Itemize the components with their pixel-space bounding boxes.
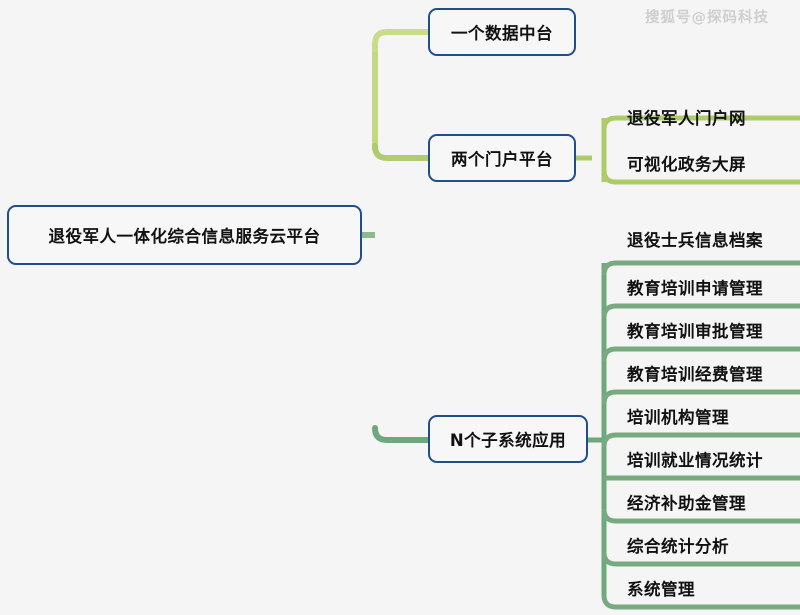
- leaf-node[interactable]: 综合统计分析: [614, 528, 729, 562]
- root-node[interactable]: 退役军人一体化综合信息服务云平台: [7, 205, 362, 265]
- leaf-node-label: 退役军人门户网: [627, 105, 746, 129]
- connector-lines: [0, 0, 800, 615]
- branch-node-data-platform[interactable]: 一个数据中台: [428, 8, 576, 56]
- mindmap-canvas: 退役军人一体化综合信息服务云平台 一个数据中台 两个门户平台 N个子系统应用 退…: [0, 0, 800, 615]
- leaf-node-label: 培训就业情况统计: [627, 447, 763, 471]
- branch-node-label: N个子系统应用: [450, 427, 566, 451]
- wire-branch-0: [375, 32, 428, 52]
- leaf-node[interactable]: 退役军人门户网: [614, 100, 746, 134]
- leaf-node[interactable]: 教育培训审批管理: [614, 313, 763, 347]
- leaf-node[interactable]: 经济补助金管理: [614, 485, 746, 519]
- leaf-node[interactable]: 教育培训经费管理: [614, 356, 763, 390]
- leaf-node-label: 综合统计分析: [627, 533, 729, 557]
- leaf-node[interactable]: 教育培训申请管理: [614, 270, 763, 304]
- leaf-node[interactable]: 系统管理: [614, 571, 695, 605]
- leaf-node[interactable]: 培训机构管理: [614, 399, 729, 433]
- leaf-node-label: 退役士兵信息档案: [627, 227, 763, 251]
- leaf-node-label: 经济补助金管理: [627, 490, 746, 514]
- branch-node-portal-platforms[interactable]: 两个门户平台: [428, 134, 576, 182]
- leaf-node-label: 教育培训申请管理: [627, 275, 763, 299]
- wire-branch-2: [375, 428, 428, 440]
- leaf-node[interactable]: 培训就业情况统计: [614, 442, 763, 476]
- branch-node-label: 一个数据中台: [451, 20, 553, 44]
- leaf-node-label: 培训机构管理: [627, 404, 729, 428]
- leaf-node[interactable]: 退役士兵信息档案: [614, 222, 763, 256]
- leaf-node-label: 教育培训审批管理: [627, 318, 763, 342]
- branch-node-label: 两个门户平台: [451, 146, 553, 170]
- leaf-node-label: 教育培训经费管理: [627, 361, 763, 385]
- leaf-node[interactable]: 可视化政务大屏: [614, 146, 746, 180]
- leaf-node-label: 可视化政务大屏: [627, 151, 746, 175]
- branch-node-subsystems[interactable]: N个子系统应用: [428, 415, 588, 463]
- root-node-label: 退役军人一体化综合信息服务云平台: [49, 223, 321, 247]
- wire-branch-1: [375, 146, 428, 158]
- watermark: 搜狐号@探码科技: [645, 6, 769, 27]
- leaf-node-label: 系统管理: [627, 576, 695, 600]
